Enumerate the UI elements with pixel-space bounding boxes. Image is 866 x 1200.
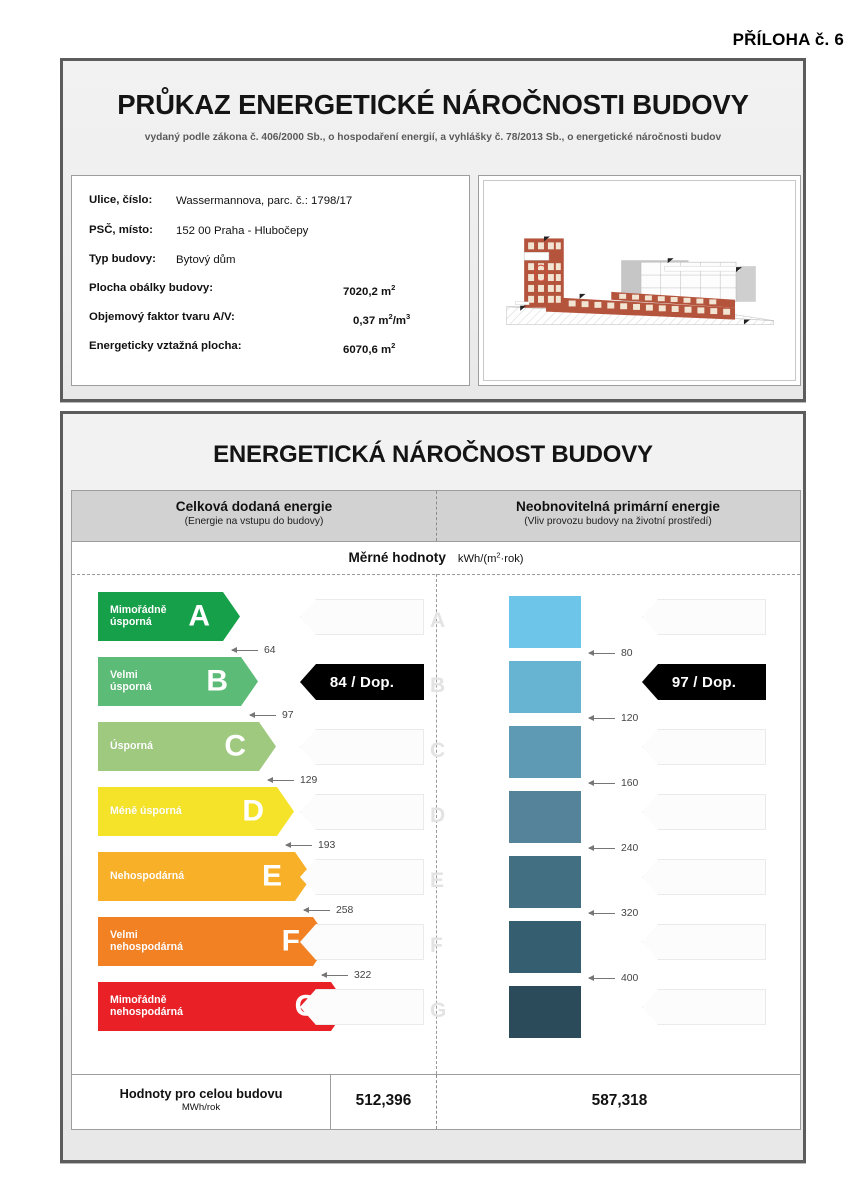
- scale-class-letter-a: A: [430, 610, 445, 631]
- scale-class-letter-d: D: [430, 805, 445, 826]
- building-info-row: Ulice, číslo:Wassermannova, parc. č.: 17…: [72, 194, 469, 220]
- building-info-label: Objemový faktor tvaru A/V:: [89, 311, 235, 323]
- column-header-subtitle: (Energie na vstupu do budovy): [72, 516, 436, 527]
- column-header-title: Celková dodaná energie: [72, 499, 436, 514]
- building-info-row: Typ budovy:Bytový dům: [72, 253, 469, 279]
- boundary-arrow-icon: [304, 910, 330, 911]
- empty-marker-primary-energy: [642, 989, 766, 1025]
- energy-scale-chart: Mimořádně úspornáAAVelmi úspornáB84 / Do…: [71, 574, 801, 1074]
- boundary-primary-energy: 120: [589, 713, 638, 724]
- building-info-row: Objemový faktor tvaru A/V:0,37 m2/m3: [72, 311, 469, 337]
- primary-energy-bar-a: [509, 596, 581, 648]
- scale-class-letter-g: G: [430, 1000, 446, 1021]
- boundary-arrow-icon: [232, 650, 258, 651]
- boundary-value: 80: [621, 648, 633, 659]
- boundary-value: 400: [621, 973, 638, 984]
- boundary-arrow-icon: [322, 975, 348, 976]
- energy-class-arrow-a: Mimořádně úspornáA: [98, 592, 240, 641]
- building-info-panel: Ulice, číslo:Wassermannova, parc. č.: 17…: [71, 175, 470, 386]
- annex-label: PŘÍLOHA č. 6: [733, 30, 844, 50]
- building-info-value: 6070,6 m2: [343, 341, 395, 356]
- boundary-value: 160: [621, 778, 638, 789]
- boundary-value: 258: [336, 905, 353, 916]
- boundary-value: 193: [318, 840, 335, 851]
- building-elevation-drawing: [484, 181, 795, 380]
- scale-class-letter-c: C: [430, 740, 445, 761]
- boundary-arrow-icon: [589, 718, 615, 719]
- empty-marker-delivered-energy: [300, 859, 424, 895]
- energy-performance-panel: ENERGETICKÁ NÁROČNOST BUDOVY Celková dod…: [60, 411, 806, 1163]
- energy-class-letter: B: [206, 666, 228, 696]
- energy-class-letter: E: [262, 861, 282, 891]
- building-info-row: PSČ, místo:152 00 Praha - Hlubočepy: [72, 224, 469, 250]
- scale-class-letter-e: E: [430, 870, 444, 891]
- empty-marker-primary-energy: [642, 729, 766, 765]
- units-label: Měrné hodnoty: [348, 550, 445, 565]
- empty-marker-primary-energy: [642, 924, 766, 960]
- building-info-value: 152 00 Praha - Hlubočepy: [176, 225, 308, 237]
- primary-energy-bar-b: [509, 661, 581, 713]
- empty-marker-primary-energy: [642, 599, 766, 635]
- boundary-value: 120: [621, 713, 638, 724]
- building-info-label: Plocha obálky budovy:: [89, 282, 213, 294]
- boundary-arrow-icon: [268, 780, 294, 781]
- building-info-label: Ulice, číslo:: [89, 194, 152, 206]
- energy-class-letter: A: [188, 601, 210, 631]
- primary-energy-bar-g: [509, 986, 581, 1038]
- building-illustration: [483, 180, 796, 381]
- energy-class-label: Nehospodárná: [110, 871, 184, 883]
- units-band: Měrné hodnotykWh/(m2·rok): [71, 542, 801, 574]
- building-info-row: Plocha obálky budovy:7020,2 m2: [72, 282, 469, 308]
- boundary-arrow-icon: [589, 783, 615, 784]
- totals-row: Hodnoty pro celou budovu MWh/rok 512,396…: [71, 1074, 801, 1130]
- boundary-delivered-energy: 129: [268, 775, 317, 786]
- boundary-value: 64: [264, 645, 276, 656]
- boundary-arrow-icon: [250, 715, 276, 716]
- boundary-value: 129: [300, 775, 317, 786]
- boundary-delivered-energy: 193: [286, 840, 335, 851]
- energy-class-arrow-b: Velmi úspornáB: [98, 657, 258, 706]
- empty-marker-primary-energy: [642, 859, 766, 895]
- boundary-arrow-icon: [286, 845, 312, 846]
- energy-class-label: Mimořádně úsporná: [110, 605, 167, 629]
- energy-class-row-g: Mimořádně nehospodárnáGG: [72, 982, 800, 1040]
- building-info-label: Energeticky vztažná plocha:: [89, 340, 242, 352]
- result-marker-value: 97 / Dop.: [672, 674, 736, 691]
- empty-marker-primary-energy: [642, 794, 766, 830]
- energy-class-row-b: Velmi úspornáB84 / Dop.B97 / Dop.: [72, 657, 800, 715]
- boundary-primary-energy: 240: [589, 843, 638, 854]
- energy-class-label: Velmi úsporná: [110, 670, 152, 694]
- building-info-label: PSČ, místo:: [89, 224, 153, 236]
- building-info-value: Wassermannova, parc. č.: 1798/17: [176, 195, 352, 207]
- energy-class-row-a: Mimořádně úspornáAA: [72, 592, 800, 650]
- energy-class-letter: C: [224, 731, 246, 761]
- boundary-delivered-energy: 64: [232, 645, 276, 656]
- result-marker-delivered-energy: 84 / Dop.: [300, 664, 424, 700]
- energy-class-row-f: Velmi nehospodárnáFF: [72, 917, 800, 975]
- scale-class-letter-f: F: [430, 935, 443, 956]
- building-info-label: Typ budovy:: [89, 253, 156, 265]
- energy-class-arrow-d: Méně úspornáD: [98, 787, 294, 836]
- energy-class-label: Úsporná: [110, 741, 153, 753]
- energy-class-row-c: ÚspornáCC: [72, 722, 800, 780]
- primary-energy-bar-f: [509, 921, 581, 973]
- boundary-arrow-icon: [589, 913, 615, 914]
- primary-energy-bar-c: [509, 726, 581, 778]
- boundary-value: 320: [621, 908, 638, 919]
- energy-class-arrow-f: Velmi nehospodárnáF: [98, 917, 330, 966]
- boundary-value: 240: [621, 843, 638, 854]
- totals-value-primary: 587,318: [437, 1092, 802, 1110]
- boundary-primary-energy: 80: [589, 648, 633, 659]
- boundary-value: 97: [282, 710, 294, 721]
- boundary-arrow-icon: [589, 848, 615, 849]
- scale-class-letter-b: B: [430, 675, 445, 696]
- boundary-primary-energy: 320: [589, 908, 638, 919]
- boundary-delivered-energy: 258: [304, 905, 353, 916]
- column-header-delivered-energy: Celková dodaná energie (Energie na vstup…: [72, 499, 436, 527]
- document-title: PRŮKAZ ENERGETICKÉ NÁROČNOSTI BUDOVY: [63, 89, 803, 121]
- totals-value-delivered: 512,396: [330, 1092, 437, 1110]
- energy-class-row-d: Méně úspornáDD: [72, 787, 800, 845]
- column-header-subtitle: (Vliv provozu budovy na životní prostřed…: [436, 516, 800, 527]
- section-title: ENERGETICKÁ NÁROČNOST BUDOVY: [63, 441, 803, 469]
- empty-marker-delivered-energy: [300, 729, 424, 765]
- boundary-primary-energy: 400: [589, 973, 638, 984]
- building-info-value: 7020,2 m2: [343, 283, 395, 298]
- energy-class-arrow-e: NehospodárnáE: [98, 852, 312, 901]
- building-info-row: Energeticky vztažná plocha:6070,6 m2: [72, 340, 469, 366]
- building-info-value: 0,37 m2/m3: [353, 312, 410, 327]
- building-illustration-panel: [478, 175, 801, 386]
- boundary-delivered-energy: 322: [322, 970, 371, 981]
- result-marker-primary-energy: 97 / Dop.: [642, 664, 766, 700]
- energy-class-letter: F: [282, 926, 300, 956]
- column-header-primary-energy: Neobnovitelná primární energie (Vliv pro…: [436, 499, 800, 527]
- boundary-arrow-icon: [589, 978, 615, 979]
- building-info-value: Bytový dům: [176, 254, 236, 266]
- empty-marker-delivered-energy: [300, 924, 424, 960]
- empty-marker-delivered-energy: [300, 599, 424, 635]
- boundary-arrow-icon: [589, 653, 615, 654]
- energy-class-letter: D: [242, 796, 264, 826]
- energy-class-label: Velmi nehospodárná: [110, 930, 183, 954]
- certificate-header-panel: PRŮKAZ ENERGETICKÉ NÁROČNOSTI BUDOVY vyd…: [60, 58, 806, 402]
- boundary-delivered-energy: 97: [250, 710, 294, 721]
- boundary-primary-energy: 160: [589, 778, 638, 789]
- totals-unit-text: MWh/rok: [72, 1102, 330, 1113]
- result-marker-value: 84 / Dop.: [330, 674, 394, 691]
- energy-class-label: Mimořádně nehospodárná: [110, 995, 183, 1019]
- primary-energy-bar-d: [509, 791, 581, 843]
- energy-class-label: Méně úsporná: [110, 806, 182, 818]
- energy-class-arrow-c: ÚspornáC: [98, 722, 276, 771]
- boundary-value: 322: [354, 970, 371, 981]
- columns-header: Celková dodaná energie (Energie na vstup…: [71, 490, 801, 542]
- column-header-title: Neobnovitelná primární energie: [436, 499, 800, 514]
- empty-marker-delivered-energy: [300, 794, 424, 830]
- totals-label: Hodnoty pro celou budovu MWh/rok: [72, 1086, 330, 1113]
- document-subtitle: vydaný podle zákona č. 406/2000 Sb., o h…: [63, 132, 803, 143]
- units-value: kWh/(m2·rok): [458, 553, 524, 565]
- primary-energy-bar-e: [509, 856, 581, 908]
- totals-label-text: Hodnoty pro celou budovu: [72, 1086, 330, 1101]
- energy-class-row-e: NehospodárnáEE: [72, 852, 800, 910]
- empty-marker-delivered-energy: [300, 989, 424, 1025]
